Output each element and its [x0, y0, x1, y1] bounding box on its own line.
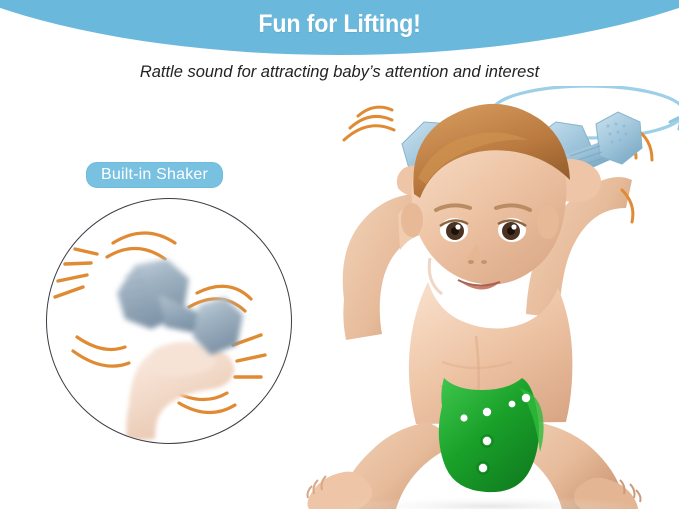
motion-lines-right — [233, 335, 265, 377]
shaker-closeup-circle — [46, 198, 292, 444]
shaker-closeup-illustration — [47, 199, 291, 443]
motion-arcs-topleft — [107, 233, 175, 259]
hand-shaking — [126, 342, 234, 441]
motion-arcs-bottomleft — [73, 337, 129, 366]
baby-photo — [300, 86, 679, 509]
built-in-shaker-badge: Built-in Shaker — [86, 162, 223, 188]
motion-lines-left — [55, 249, 97, 297]
subtitle-text: Rattle sound for attracting baby’s atten… — [10, 62, 669, 82]
page-title: Fun for Lifting! — [24, 10, 655, 39]
baby-illustration — [300, 86, 679, 509]
dumbbell-rattle — [117, 259, 243, 355]
promo-image-root: Fun for Lifting! Rattle sound for attrac… — [0, 0, 679, 509]
